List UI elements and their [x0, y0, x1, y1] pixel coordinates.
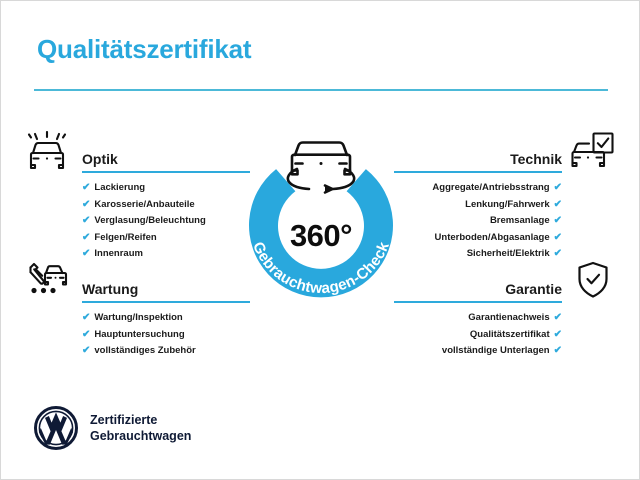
list-item: Garantienachweis✔	[394, 310, 562, 327]
check-icon: ✔	[554, 312, 562, 323]
section-optik-title: Optik	[82, 151, 118, 167]
page-title: Qualitätszertifikat	[37, 34, 251, 65]
list-item-label: Unterboden/Abgasanlage	[435, 232, 550, 243]
check-icon: ✔	[554, 199, 562, 210]
section-garantie-title: Garantie	[505, 281, 562, 297]
list-item: ✔Innenraum	[82, 246, 250, 263]
volkswagen-logo-icon	[34, 406, 78, 450]
check-icon: ✔	[82, 232, 90, 243]
section-optik-header: Optik	[82, 143, 250, 173]
section-technik-items: Aggregate/Antriebsstrang✔ Lenkung/Fahrwe…	[394, 180, 562, 263]
section-garantie: Garantie Garantienachweis✔ Qualitätszert…	[394, 273, 562, 360]
list-item-label: Wartung/Inspektion	[94, 312, 182, 323]
list-item: ✔Lackierung	[82, 180, 250, 197]
check-icon: ✔	[554, 345, 562, 356]
section-wartung: Wartung ✔Wartung/Inspektion ✔Hauptunters…	[82, 273, 250, 360]
list-item-label: Bremsanlage	[490, 215, 550, 226]
list-item-label: Karosserie/Anbauteile	[94, 199, 194, 210]
list-item: ✔Verglasung/Beleuchtung	[82, 213, 250, 230]
list-item-label: Qualitätszertifikat	[470, 329, 550, 340]
check-icon: ✔	[554, 232, 562, 243]
list-item-label: Aggregate/Antriebsstrang	[432, 182, 549, 193]
section-garantie-items: Garantienachweis✔ Qualitätszertifikat✔ v…	[394, 310, 562, 360]
section-wartung-header: Wartung	[82, 273, 250, 303]
wrench-car-icon	[24, 260, 70, 300]
check-icon: ✔	[554, 215, 562, 226]
check-icon: ✔	[82, 248, 90, 259]
section-optik-divider	[82, 171, 250, 173]
section-optik-items: ✔Lackierung ✔Karosserie/Anbauteile ✔Verg…	[82, 180, 250, 263]
section-technik: Technik Aggregate/Antriebsstrang✔ Lenkun…	[394, 143, 562, 263]
list-item: Bremsanlage✔	[394, 213, 562, 230]
list-item: ✔Wartung/Inspektion	[82, 310, 250, 327]
list-item-label: Garantienachweis	[468, 312, 549, 323]
section-technik-header: Technik	[394, 143, 562, 173]
footer-text: Zertifizierte Gebrauchtwagen	[90, 412, 191, 444]
footer-line-2: Gebrauchtwagen	[90, 428, 191, 444]
section-wartung-title: Wartung	[82, 281, 138, 297]
header-divider	[34, 89, 608, 91]
section-technik-title: Technik	[510, 151, 562, 167]
list-item: Aggregate/Antriebsstrang✔	[394, 180, 562, 197]
footer-line-1: Zertifizierte	[90, 412, 191, 428]
section-technik-divider	[394, 171, 562, 173]
list-item-label: Felgen/Reifen	[94, 232, 156, 243]
qualitaetszertifikat-page: Qualitätszertifikat Optik ✔Lackierung ✔K…	[0, 0, 640, 480]
check-icon: ✔	[554, 182, 562, 193]
check-icon: ✔	[82, 329, 90, 340]
list-item-label: Verglasung/Beleuchtung	[94, 215, 205, 226]
gebrauchtwagen-check-badge: Gebrauchtwagen-Check 360°	[229, 123, 413, 313]
list-item: Lenkung/Fahrwerk✔	[394, 197, 562, 214]
check-icon: ✔	[82, 199, 90, 210]
list-item-label: Lackierung	[94, 182, 145, 193]
list-item-label: vollständige Unterlagen	[442, 345, 550, 356]
section-optik: Optik ✔Lackierung ✔Karosserie/Anbauteile…	[82, 143, 250, 263]
list-item: ✔vollständiges Zubehör	[82, 343, 250, 360]
section-wartung-items: ✔Wartung/Inspektion ✔Hauptuntersuchung ✔…	[82, 310, 250, 360]
list-item-label: Sicherheit/Elektrik	[467, 248, 550, 259]
car-shine-icon	[24, 131, 70, 171]
section-garantie-divider	[394, 301, 562, 303]
list-item: Qualitätszertifikat✔	[394, 327, 562, 344]
check-icon: ✔	[554, 248, 562, 259]
section-wartung-divider	[82, 301, 250, 303]
check-icon: ✔	[82, 312, 90, 323]
list-item-label: Innenraum	[94, 248, 143, 259]
list-item-label: Hauptuntersuchung	[94, 329, 184, 340]
list-item: Sicherheit/Elektrik✔	[394, 246, 562, 263]
car-checkbox-icon	[570, 131, 616, 171]
check-icon: ✔	[82, 182, 90, 193]
list-item: ✔Karosserie/Anbauteile	[82, 197, 250, 214]
footer-brand: Zertifizierte Gebrauchtwagen	[34, 406, 191, 450]
section-garantie-header: Garantie	[394, 273, 562, 303]
list-item-label: vollständiges Zubehör	[94, 345, 195, 356]
badge-value: 360°	[229, 218, 413, 254]
list-item: Unterboden/Abgasanlage✔	[394, 230, 562, 247]
check-icon: ✔	[82, 215, 90, 226]
list-item: ✔Felgen/Reifen	[82, 230, 250, 247]
list-item: vollständige Unterlagen✔	[394, 343, 562, 360]
list-item-label: Lenkung/Fahrwerk	[465, 199, 549, 210]
check-icon: ✔	[82, 345, 90, 356]
check-icon: ✔	[554, 329, 562, 340]
shield-check-icon	[570, 260, 616, 300]
list-item: ✔Hauptuntersuchung	[82, 327, 250, 344]
